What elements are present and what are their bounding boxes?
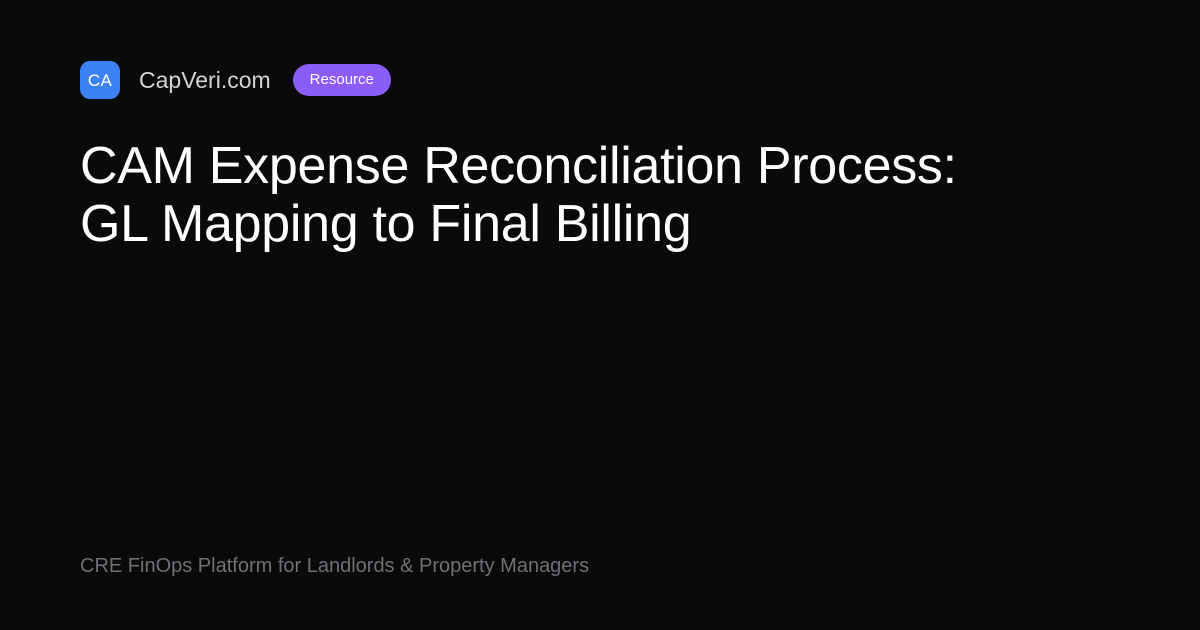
resource-badge: Resource [293, 64, 391, 96]
brand-row: CA CapVeri.com Resource [80, 61, 1120, 99]
share-card: CA CapVeri.com Resource CAM Expense Reco… [0, 0, 1200, 630]
footer-tagline: CRE FinOps Platform for Landlords & Prop… [80, 554, 1120, 578]
capveri-logo-icon: CA [80, 61, 120, 99]
brand-name: CapVeri.com [139, 69, 271, 92]
title-block: CAM Expense Reconciliation Process: GL M… [80, 137, 980, 253]
page-title: CAM Expense Reconciliation Process: GL M… [80, 137, 980, 253]
layout-spacer [80, 253, 1120, 554]
